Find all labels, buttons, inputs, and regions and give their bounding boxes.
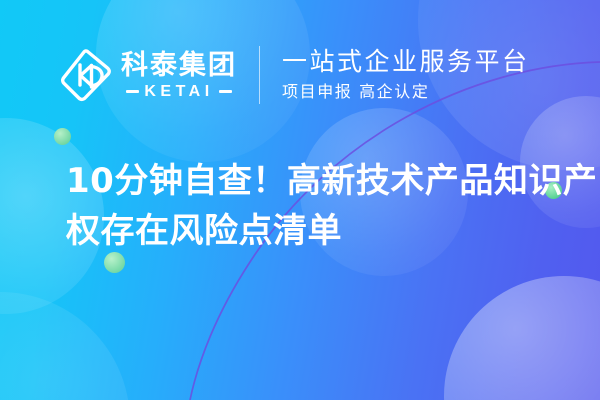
tagline: 一站式企业服务平台 项目申报 高企认定 bbox=[282, 47, 530, 103]
headline-line-2: 权存在风险点清单 bbox=[66, 206, 578, 256]
soft-white-circle bbox=[444, 276, 600, 400]
logo-name-cn: 科泰集团 bbox=[121, 51, 237, 81]
headline: 10分钟自查！高新技术产品知识产 权存在风险点清单 bbox=[66, 156, 578, 256]
tagline-main: 一站式企业服务平台 bbox=[282, 47, 530, 77]
banner-header: 科泰集团 KETAI 一站式企业服务平台 项目申报 高企认定 bbox=[0, 38, 600, 112]
logo-name-en: KETAI bbox=[144, 83, 213, 100]
headline-line-1: 10分钟自查！高新技术产品知识产 bbox=[66, 156, 578, 206]
soft-white-circle bbox=[0, 292, 130, 400]
ketai-wordmark: 科泰集团 KETAI bbox=[121, 46, 237, 104]
green-accent-dot-icon bbox=[54, 128, 71, 145]
ketai-logo: 科泰集团 KETAI bbox=[58, 42, 237, 108]
logo-dash-left-icon bbox=[126, 90, 139, 93]
promo-banner: 科泰集团 KETAI 一站式企业服务平台 项目申报 高企认定 10分钟自查！高新… bbox=[0, 0, 600, 400]
logo-dash-right-icon bbox=[219, 90, 232, 93]
logo-name-en-row: KETAI bbox=[121, 83, 237, 100]
ketai-diamond-kd-monogram-icon bbox=[58, 45, 114, 105]
header-divider bbox=[259, 46, 260, 104]
tagline-sub: 项目申报 高企认定 bbox=[282, 81, 530, 103]
